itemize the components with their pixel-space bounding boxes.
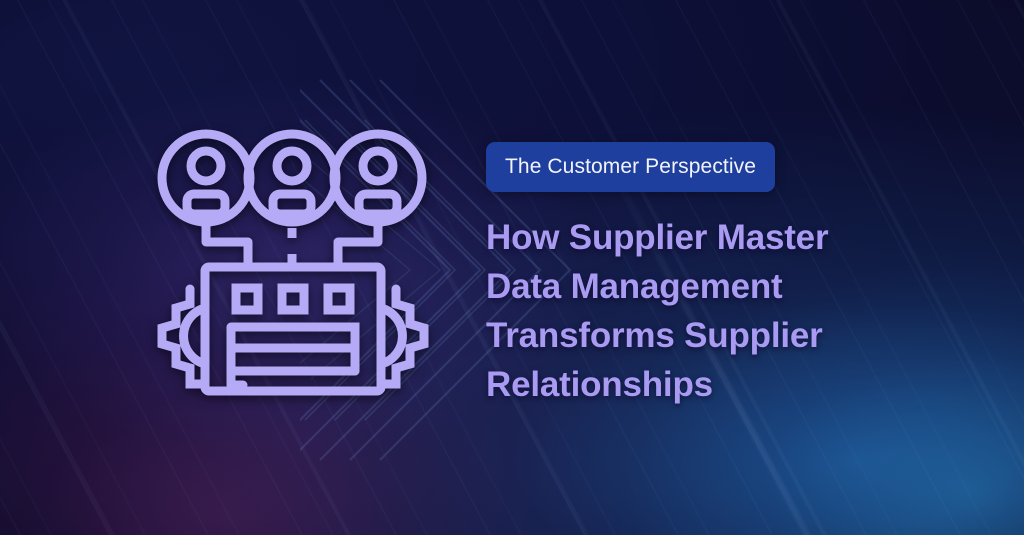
person-circle-icon-center (248, 134, 336, 222)
person-circle-icon-right (334, 134, 422, 222)
connector-right (338, 223, 378, 267)
page-title: How Supplier Master Data Management Tran… (486, 213, 846, 409)
text-block: The Customer Perspective How Supplier Ma… (486, 142, 956, 432)
person-circle-icon-left (162, 134, 250, 222)
promo-banner: The Customer Perspective How Supplier Ma… (0, 0, 1024, 535)
connector-left (206, 223, 248, 267)
supplier-network-illustration (148, 128, 438, 403)
database-server-icon (205, 267, 381, 391)
eyebrow-badge: The Customer Perspective (486, 142, 775, 192)
